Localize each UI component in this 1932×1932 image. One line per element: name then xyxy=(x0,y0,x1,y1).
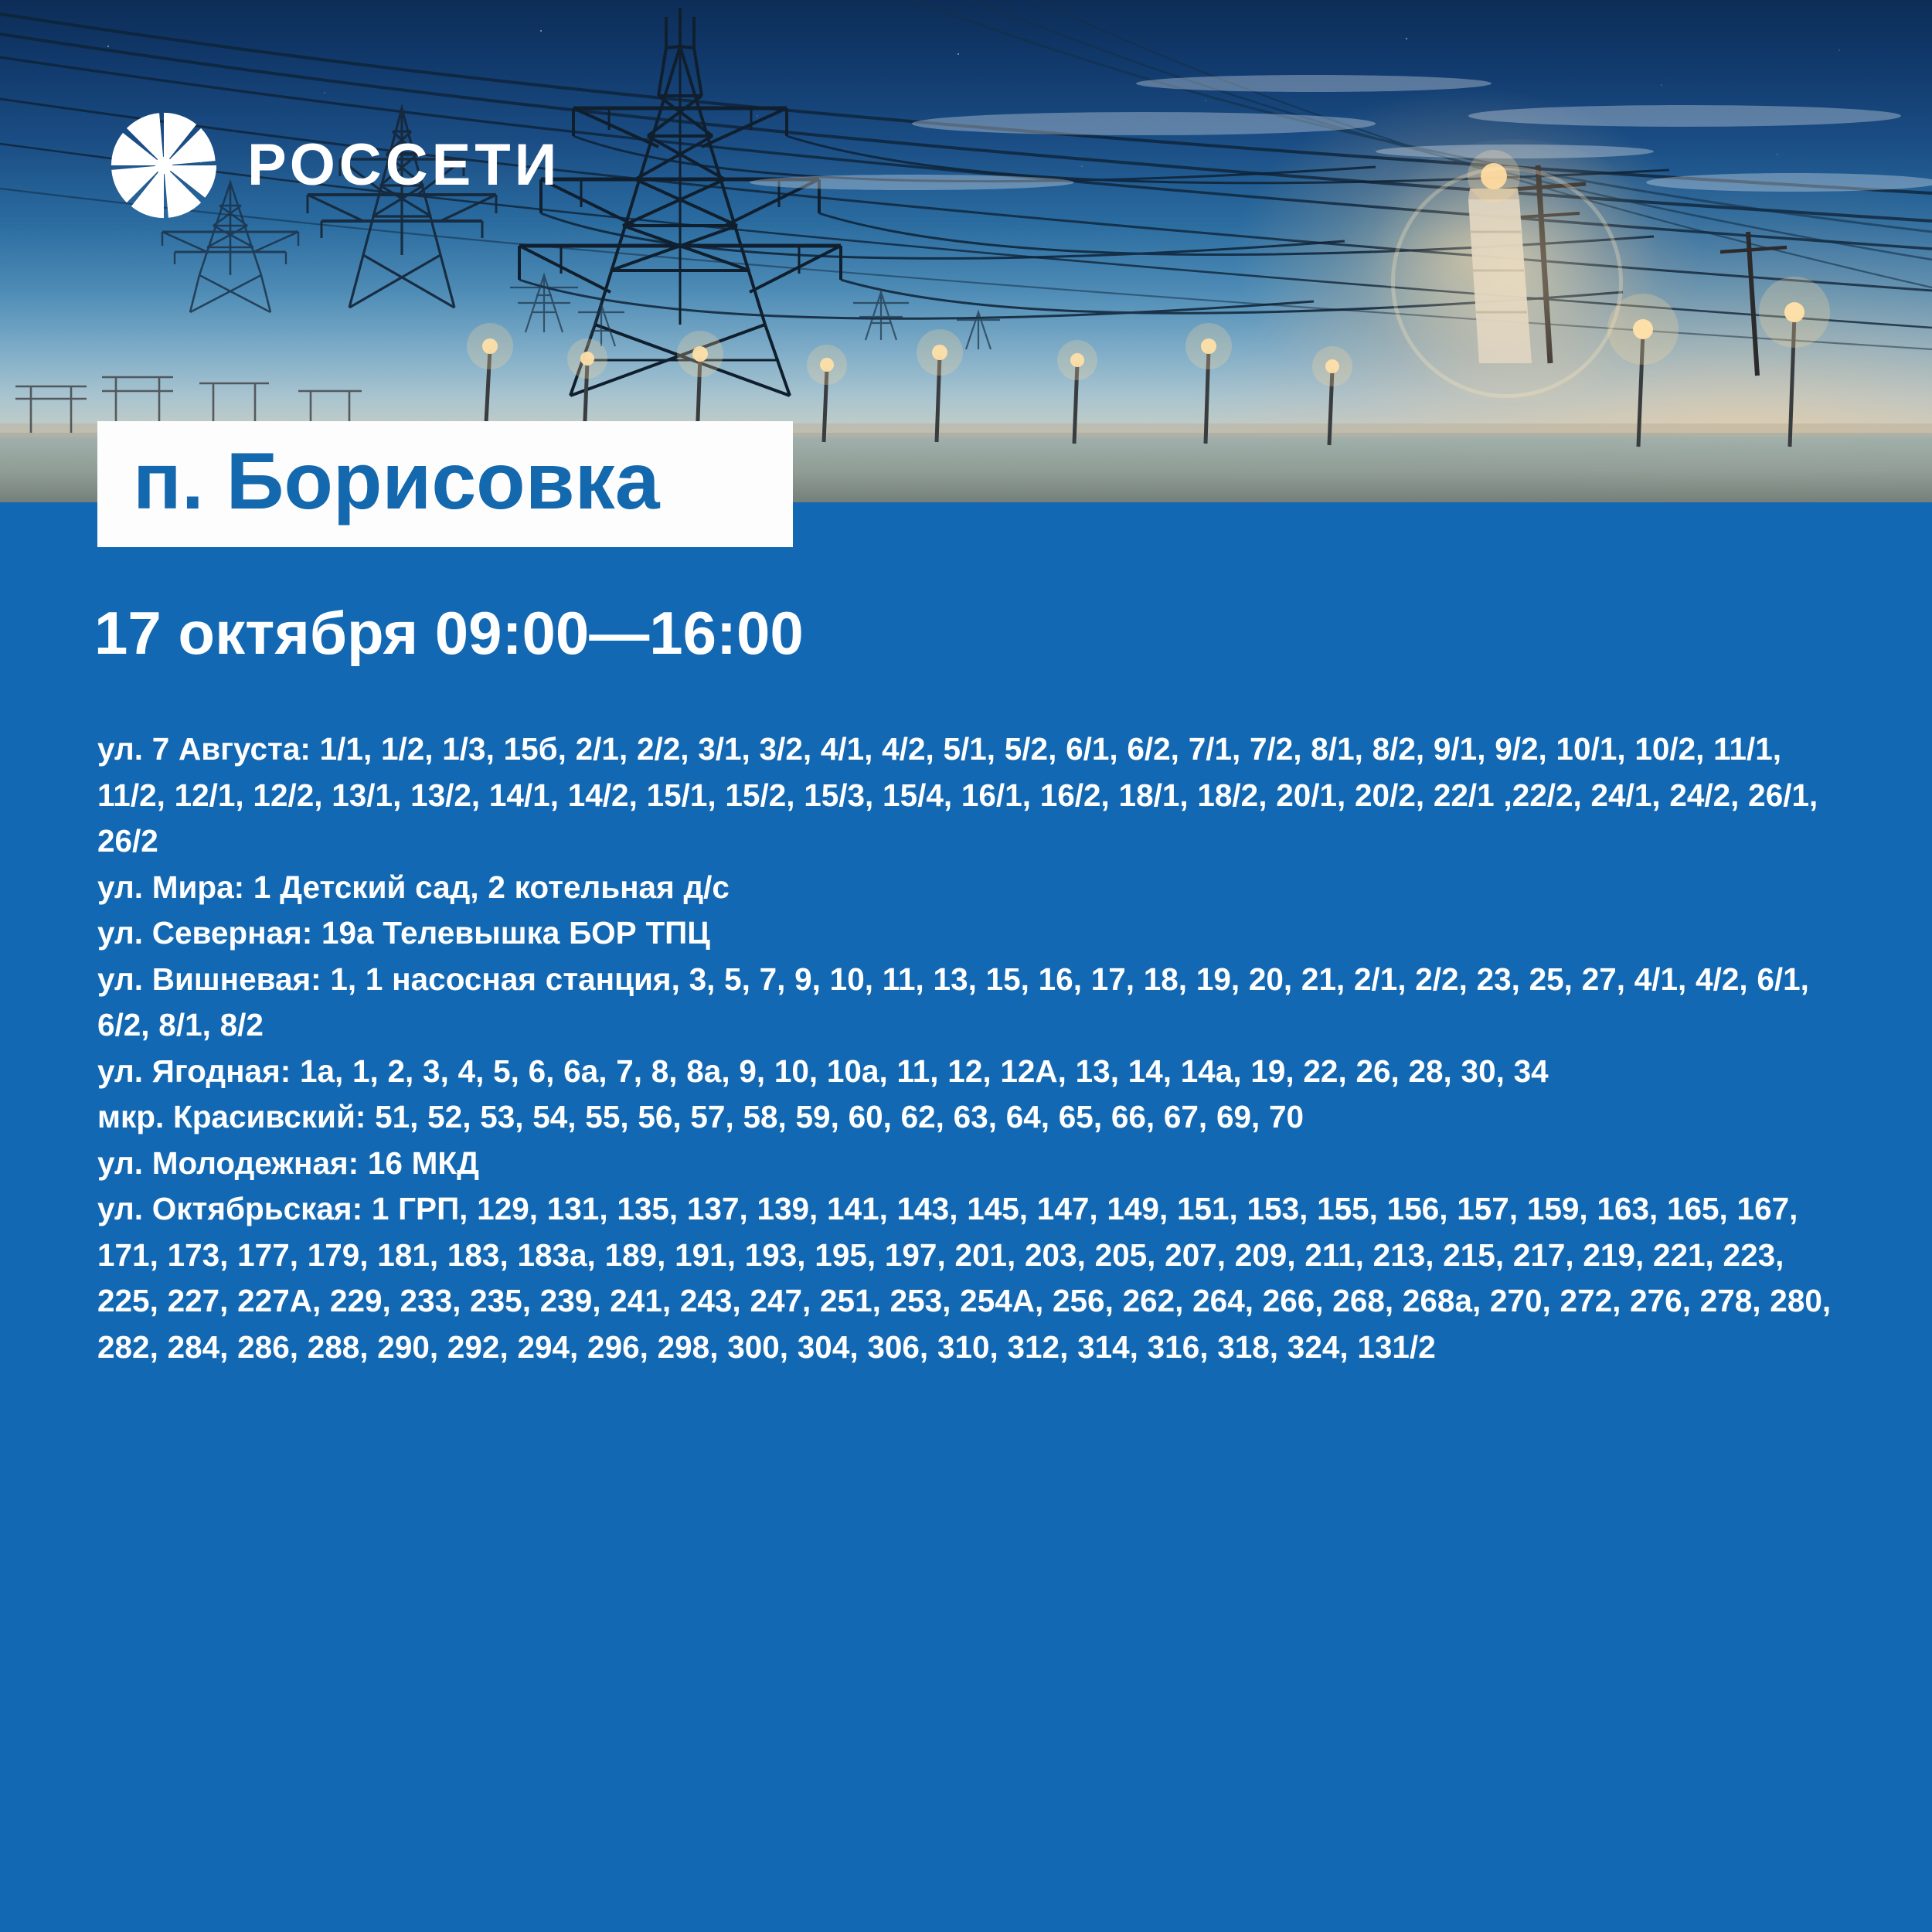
address-entry: ул. Октябрьская: 1 ГРП, 129, 131, 135, 1… xyxy=(97,1186,1832,1370)
building-numbers: 19а Телевышка БОР ТПЦ xyxy=(312,915,710,951)
street-name: ул. Вишневая: xyxy=(97,961,321,997)
building-numbers: 1а, 1, 2, 3, 4, 5, 6, 6а, 7, 8, 8а, 9, 1… xyxy=(291,1053,1548,1089)
settlement-title-banner: п. Борисовка xyxy=(97,421,793,547)
street-name: ул. Октябрьская: xyxy=(97,1191,362,1226)
address-entry: ул. Мира: 1 Детский сад, 2 котельная д/с xyxy=(97,865,1832,911)
street-name: ул. Северная: xyxy=(97,915,312,951)
rosseti-sunburst-logo-icon xyxy=(107,108,221,223)
outage-notice-poster: РОССЕТИ п. Борисовка 17 октября 09:00—16… xyxy=(0,0,1932,1932)
brand-wordmark: РОССЕТИ xyxy=(247,136,560,195)
address-entry: ул. Вишневая: 1, 1 насосная станция, 3, … xyxy=(97,957,1832,1049)
building-numbers: 1, 1 насосная станция, 3, 5, 7, 9, 10, 1… xyxy=(97,961,1809,1043)
building-numbers: 1 Детский сад, 2 котельная д/с xyxy=(244,869,730,905)
building-numbers: 16 МКД xyxy=(359,1145,479,1181)
address-entry: мкр. Красивский: 51, 52, 53, 54, 55, 56,… xyxy=(97,1094,1832,1141)
building-numbers: 51, 52, 53, 54, 55, 56, 57, 58, 59, 60, … xyxy=(366,1099,1304,1134)
street-name: ул. 7 Августа: xyxy=(97,731,311,767)
address-entry: ул. 7 Августа: 1/1, 1/2, 1/3, 15б, 2/1, … xyxy=(97,726,1832,865)
rosseti-logo: РОССЕТИ xyxy=(107,108,560,223)
page-title: п. Борисовка xyxy=(133,440,757,524)
street-name: ул. Мира: xyxy=(97,869,244,905)
street-name: ул. Ягодная: xyxy=(97,1053,291,1089)
address-entry: ул. Ягодная: 1а, 1, 2, 3, 4, 5, 6, 6а, 7… xyxy=(97,1049,1832,1095)
address-entry: ул. Молодежная: 16 МКД xyxy=(97,1141,1832,1187)
address-entry: ул. Северная: 19а Телевышка БОР ТПЦ xyxy=(97,910,1832,957)
building-numbers: 1/1, 1/2, 1/3, 15б, 2/1, 2/2, 3/1, 3/2, … xyxy=(97,731,1818,859)
outage-details-panel: 17 октября 09:00—16:00 ул. 7 Августа: 1/… xyxy=(0,502,1932,1932)
street-name: ул. Молодежная: xyxy=(97,1145,359,1181)
outage-datetime: 17 октября 09:00—16:00 xyxy=(94,603,804,663)
street-name: мкр. Красивский: xyxy=(97,1099,366,1134)
affected-addresses-list: ул. 7 Августа: 1/1, 1/2, 1/3, 15б, 2/1, … xyxy=(97,726,1832,1370)
